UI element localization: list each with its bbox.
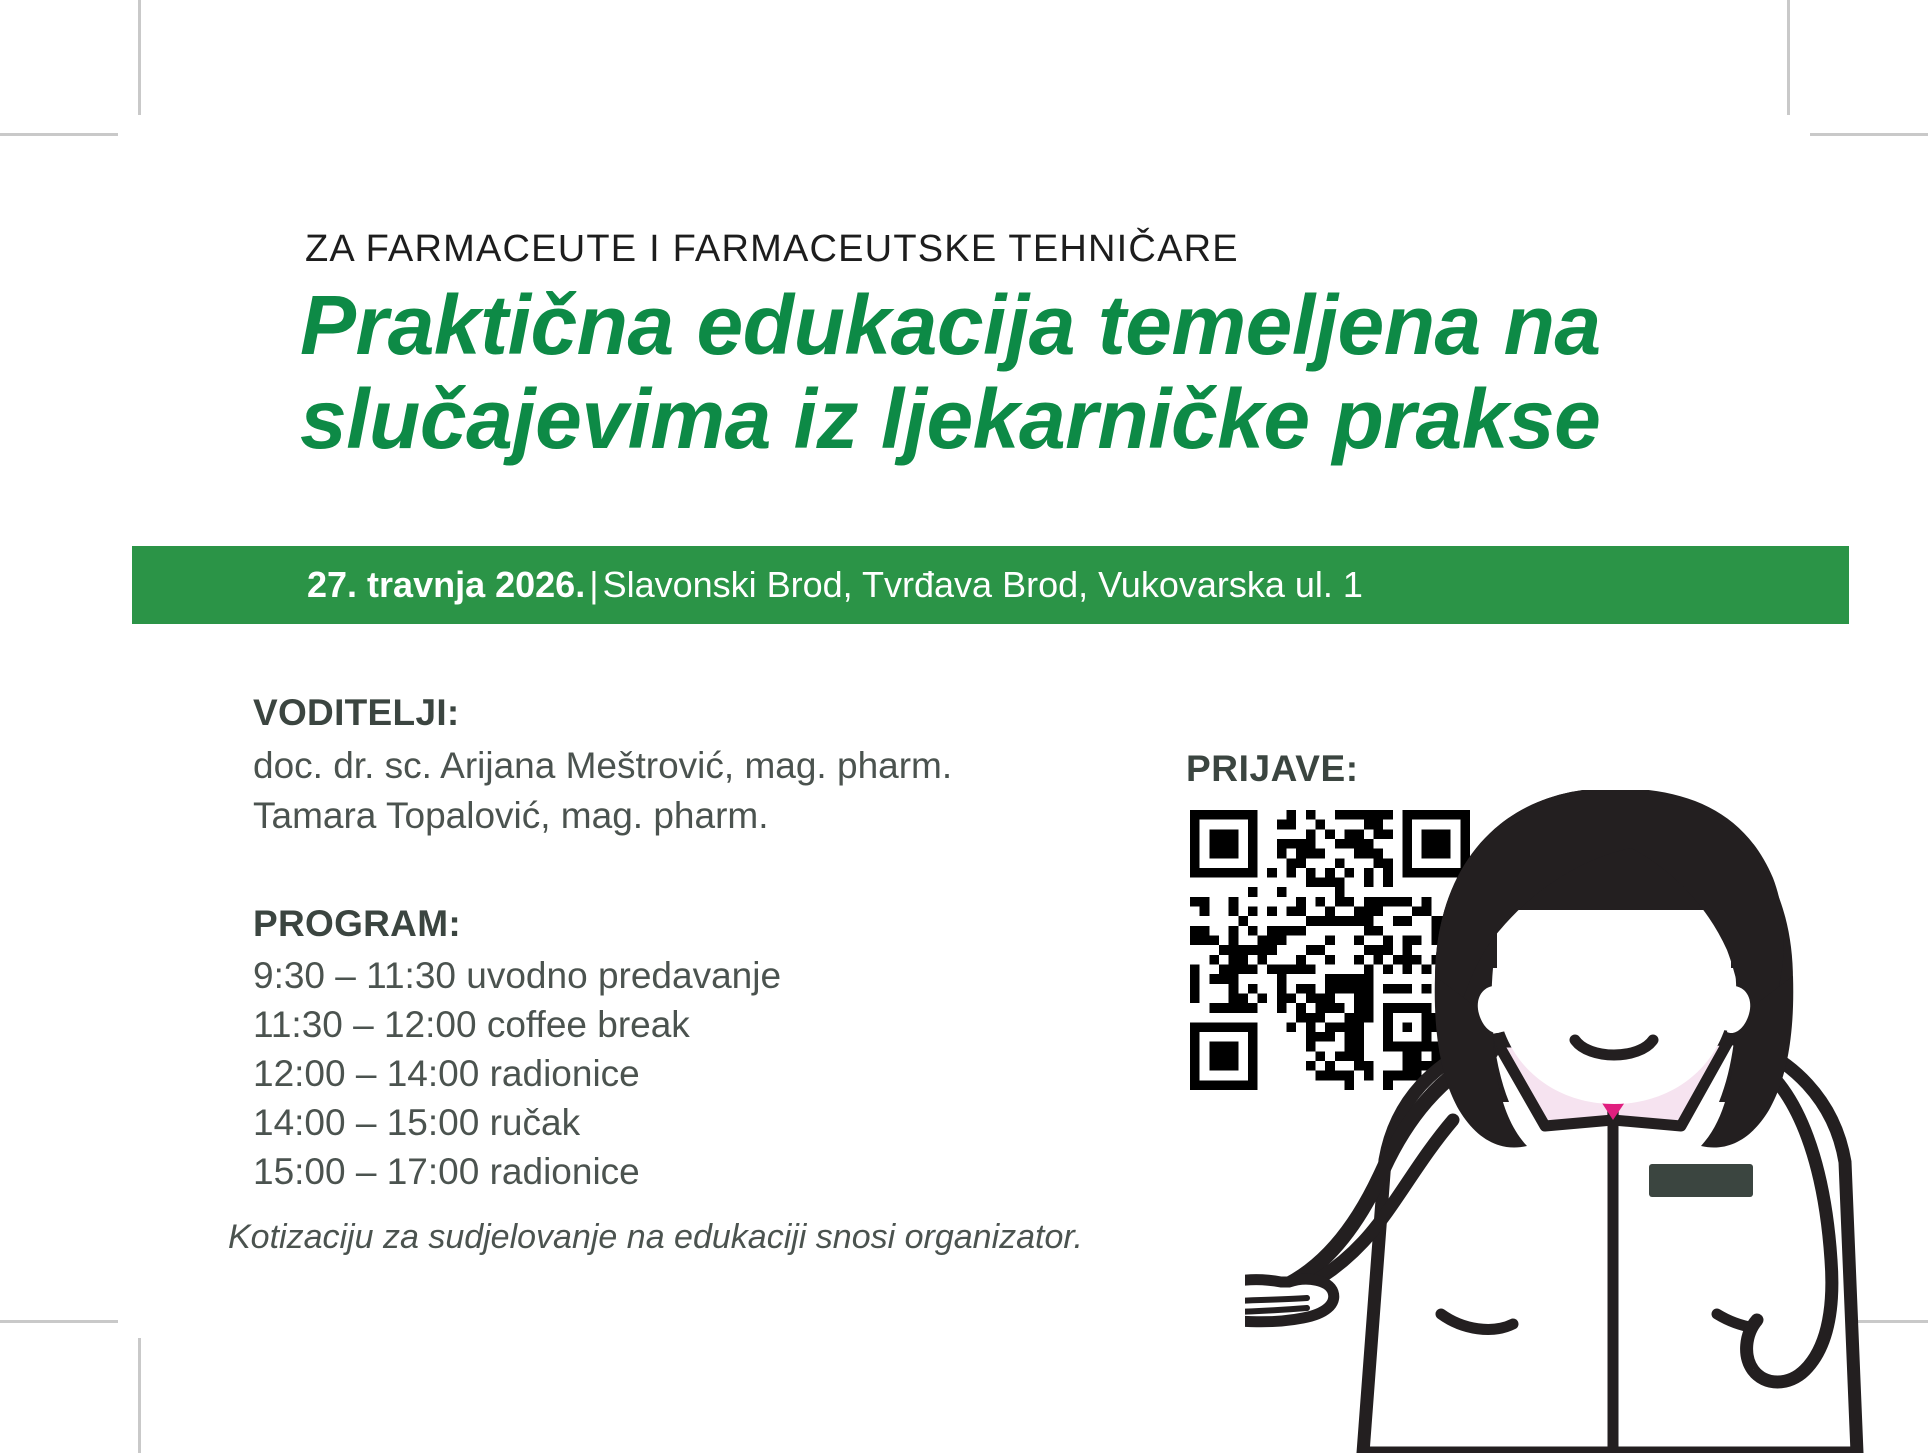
- banner-separator: |: [585, 564, 602, 605]
- crop-mark-bottom-left-vertical: [138, 1338, 141, 1453]
- program-item: 15:00 – 17:00 radionice: [253, 1151, 640, 1193]
- voditelji-person: doc. dr. sc. Arijana Meštrović, mag. pha…: [253, 745, 952, 787]
- event-banner: 27. travnja 2026.|Slavonski Brod, Tvrđav…: [132, 546, 1849, 624]
- crop-mark-top-left-horizontal: [0, 133, 118, 136]
- illustration-figure: [1245, 790, 1857, 1453]
- page-title: Praktična edukacija temeljena na slučaje…: [300, 278, 1720, 466]
- crop-mark-top-right-horizontal: [1810, 133, 1928, 136]
- program-item: 12:00 – 14:00 radionice: [253, 1053, 640, 1095]
- voditelji-heading: VODITELJI:: [253, 692, 460, 734]
- crop-mark-top-right-vertical: [1787, 0, 1790, 115]
- audience-kicker: ZA FARMACEUTE I FARMACEUTSKE TEHNIČARE: [305, 228, 1239, 271]
- poster-canvas: ZA FARMACEUTE I FARMACEUTSKE TEHNIČARE P…: [0, 0, 1928, 1453]
- event-location: Slavonski Brod, Tvrđava Brod, Vukovarska…: [603, 564, 1363, 605]
- fee-footnote: Kotizaciju za sudjelovanje na edukaciji …: [228, 1218, 1083, 1257]
- program-item: 9:30 – 11:30 uvodno predavanje: [253, 955, 781, 997]
- pharmacist-illustration: [1245, 790, 1928, 1453]
- crop-mark-bottom-left-horizontal: [0, 1320, 118, 1323]
- crop-mark-top-left-vertical: [138, 0, 141, 115]
- event-date: 27. travnja 2026.: [307, 564, 585, 605]
- program-item: 14:00 – 15:00 ručak: [253, 1102, 580, 1144]
- program-item: 11:30 – 12:00 coffee break: [253, 1004, 690, 1046]
- name-badge: [1649, 1164, 1753, 1197]
- program-heading: PROGRAM:: [253, 903, 461, 945]
- voditelji-person: Tamara Topalović, mag. pharm.: [253, 795, 769, 837]
- hand-finger-line-2: [1245, 1308, 1307, 1312]
- prijave-heading: PRIJAVE:: [1186, 748, 1359, 790]
- hand-finger-line-1: [1245, 1298, 1307, 1302]
- banner-text: 27. travnja 2026.|Slavonski Brod, Tvrđav…: [307, 564, 1363, 606]
